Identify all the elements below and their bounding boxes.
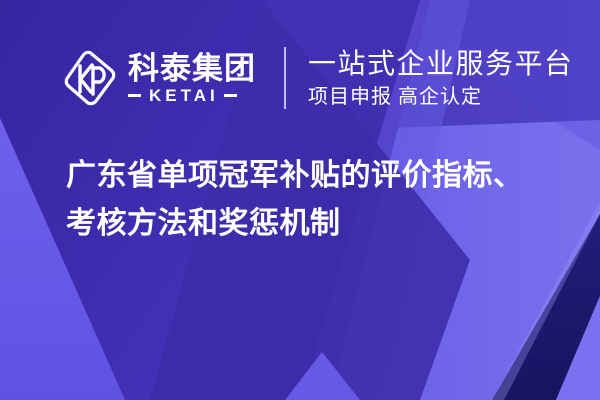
ketai-diamond-kp-monogram-icon xyxy=(62,48,118,108)
ketai-logo[interactable]: 科泰集团 KETAI xyxy=(62,40,256,116)
logo-rule-right xyxy=(224,94,237,97)
title-line-2: 考核方法和奖惩机制 xyxy=(66,200,566,248)
logo-company-name-en: KETAI xyxy=(141,87,224,105)
logo-en-row: KETAI xyxy=(128,87,256,105)
promo-banner: 科泰集团 KETAI 一站式企业服务平台 项目申报 高企认定 广东省单项冠军补贴… xyxy=(0,0,600,400)
banner-title: 广东省单项冠军补贴的评价指标、 考核方法和奖惩机制 xyxy=(66,152,566,248)
banner-header: 科泰集团 KETAI 一站式企业服务平台 项目申报 高企认定 xyxy=(62,40,574,116)
tagline-primary: 一站式企业服务平台 xyxy=(308,47,574,81)
logo-company-name-cn: 科泰集团 xyxy=(128,52,256,85)
header-divider xyxy=(284,47,286,109)
tagline-secondary: 项目申报 高企认定 xyxy=(308,84,574,110)
logo-rule-left xyxy=(128,94,141,97)
title-line-1: 广东省单项冠军补贴的评价指标、 xyxy=(66,152,566,200)
logo-wordmark: 科泰集团 KETAI xyxy=(128,48,256,108)
tagline-block: 一站式企业服务平台 项目申报 高企认定 xyxy=(308,43,574,113)
